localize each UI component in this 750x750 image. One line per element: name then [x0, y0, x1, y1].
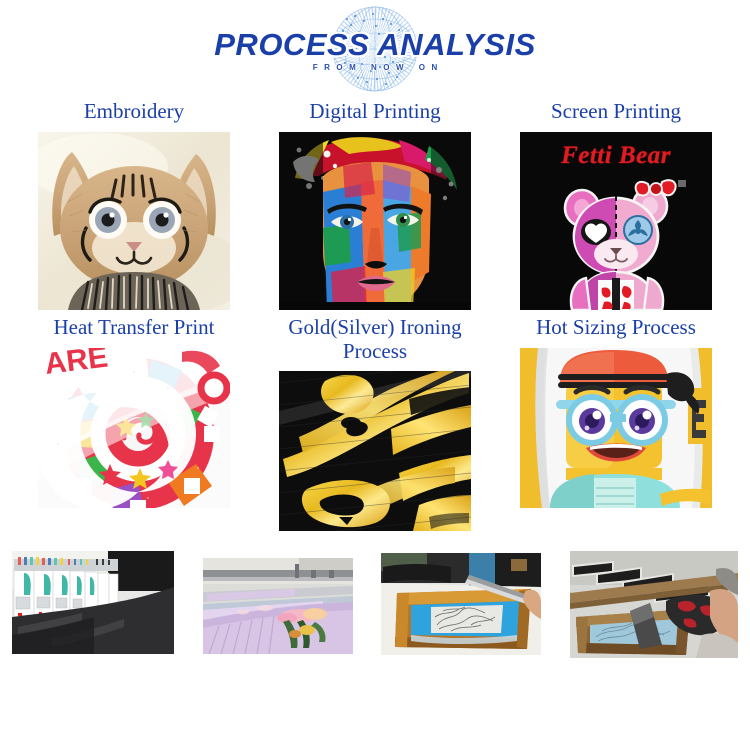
- process-card-heat-transfer-print[interactable]: Heat Transfer Print: [18, 316, 250, 531]
- screen-print-bear-sample-image: Fetti Bear: [520, 132, 712, 310]
- process-label-line1: Gold(Silver) Ironing: [288, 315, 461, 339]
- screen-printing-frame-photo: [381, 553, 541, 655]
- process-card-hot-sizing[interactable]: Hot Sizing Process: [500, 316, 732, 531]
- process-label-heat-transfer-print: Heat Transfer Print: [54, 316, 215, 340]
- process-card-screen-printing[interactable]: Screen Printing Fetti Bear: [500, 100, 732, 310]
- process-label-embroidery: Embroidery: [84, 100, 184, 124]
- process-label-hot-sizing: Hot Sizing Process: [536, 316, 696, 340]
- bear-artwork-text: Fetti Bear: [520, 142, 712, 170]
- process-label-digital-printing: Digital Printing: [309, 100, 440, 124]
- embroidered-cat-sample-image: [38, 132, 230, 310]
- embroidery-machine-line-photo: [12, 551, 174, 654]
- process-row-2: Heat Transfer Print: [18, 316, 732, 531]
- gold-foil-sample-image: [279, 371, 471, 531]
- process-label-screen-printing: Screen Printing: [551, 100, 681, 124]
- page-header: PROCESS ANALYSIS FROM NOW ON: [0, 0, 750, 100]
- screen-printing-worker-photo: [570, 551, 738, 658]
- process-card-embroidery[interactable]: Embroidery: [18, 100, 250, 310]
- factory-photo-strip: [0, 549, 750, 658]
- process-label-line2: Process: [343, 339, 407, 363]
- page-title: PROCESS ANALYSIS: [214, 29, 536, 60]
- process-label-gold-silver-ironing: Gold(Silver) Ironing Process: [288, 316, 461, 363]
- digital-printing-line-photo: [203, 558, 353, 654]
- process-row-1: Embroidery: [18, 100, 732, 310]
- process-card-digital-printing[interactable]: Digital Printing: [259, 100, 491, 310]
- brand-logo: PROCESS ANALYSIS FROM NOW ON: [225, 4, 525, 96]
- process-card-gold-silver-ironing[interactable]: Gold(Silver) Ironing Process: [259, 316, 491, 531]
- page-subtitle: FROM NOW ON: [306, 63, 444, 72]
- process-grid: Embroidery: [0, 100, 750, 531]
- hot-sizing-sample-image: [520, 348, 712, 508]
- digital-print-portrait-sample-image: [279, 132, 471, 310]
- heat-transfer-sample-image: ARE: [38, 348, 230, 508]
